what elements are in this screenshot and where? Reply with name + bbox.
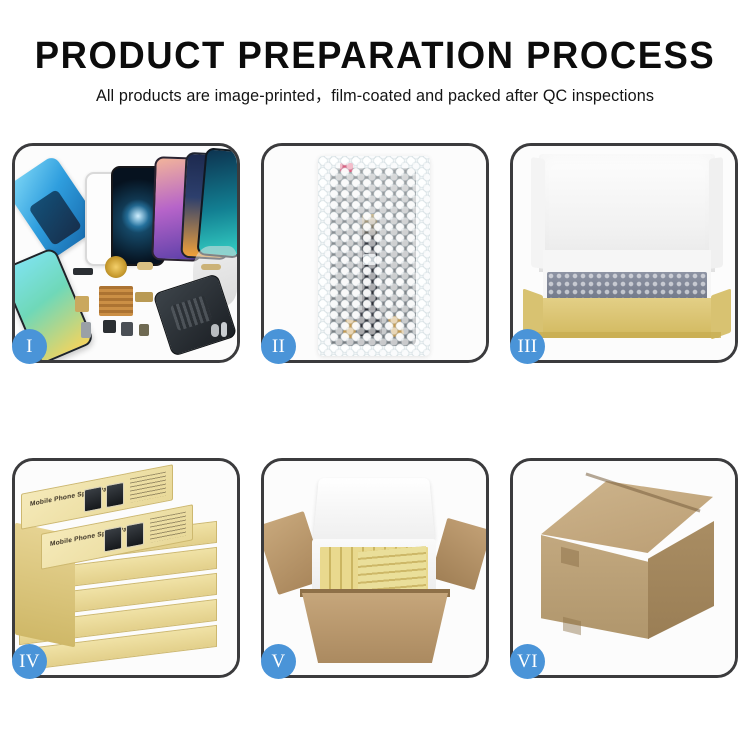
small-part-5 [81, 322, 91, 338]
step-photo-sealed-carton [513, 461, 735, 675]
page-subtitle: All products are image-printed，film-coat… [0, 85, 750, 107]
carton-front-panel [302, 593, 448, 663]
page-title: PRODUCT PREPARATION PROCESS [15, 34, 735, 78]
step-panel-3: III [510, 143, 738, 363]
small-part-4 [135, 292, 153, 302]
step-badge-1: I [12, 329, 47, 364]
step-badge-5: V [261, 644, 296, 679]
small-part-7 [121, 322, 133, 336]
bubble-texture-overlay [318, 156, 430, 356]
box-label-1: Mobile Phone Spare Parts [30, 484, 116, 508]
copper-coil-part [105, 256, 127, 278]
lid-phone-image-1b [106, 482, 124, 508]
process-steps-grid: I II III [12, 143, 738, 678]
lid-phone-image-2a [104, 526, 122, 552]
step-panel-2: II [261, 143, 489, 363]
small-part-9 [211, 324, 219, 337]
carton-flap-right [430, 518, 486, 590]
page-header: PRODUCT PREPARATION PROCESS All products… [0, 0, 750, 107]
small-part-3 [75, 296, 89, 312]
step-photo-box-stack: Mobile Phone Spare Parts Mobile Phone Sp… [15, 461, 237, 675]
lid-phone-image-1a [84, 486, 102, 512]
small-part-6 [103, 320, 116, 333]
chip-array-part [99, 286, 133, 316]
step-photo-products [15, 146, 237, 360]
small-part-2 [137, 262, 153, 270]
lid-phone-image-2b [126, 522, 144, 548]
step-badge-3: III [510, 329, 545, 364]
bubble-wrap-bag [318, 156, 430, 356]
step-badge-6: VI [510, 644, 545, 679]
small-part-11 [201, 264, 221, 270]
step-badge-2: II [261, 329, 296, 364]
step-photo-inner-box [513, 146, 735, 360]
box-label-2: Mobile Phone Spare Parts [50, 524, 136, 548]
lid-spec-lines-1 [130, 472, 166, 503]
step-panel-5: V [261, 458, 489, 678]
step-badge-4: IV [12, 644, 47, 679]
step-panel-1: I [12, 143, 240, 363]
small-part-10 [221, 322, 227, 337]
step-panel-6: VI [510, 458, 738, 678]
lid-spec-lines-2 [150, 512, 186, 543]
step-photo-bubble-wrap [264, 146, 486, 360]
small-part-1 [73, 268, 93, 275]
step-photo-foam-carton [264, 461, 486, 675]
foam-lid [313, 478, 435, 541]
step-panel-4: Mobile Phone Spare Parts Mobile Phone Sp… [12, 458, 240, 678]
carton-left-face [541, 535, 649, 639]
small-part-8 [139, 324, 149, 336]
box-front-edge [533, 332, 721, 338]
